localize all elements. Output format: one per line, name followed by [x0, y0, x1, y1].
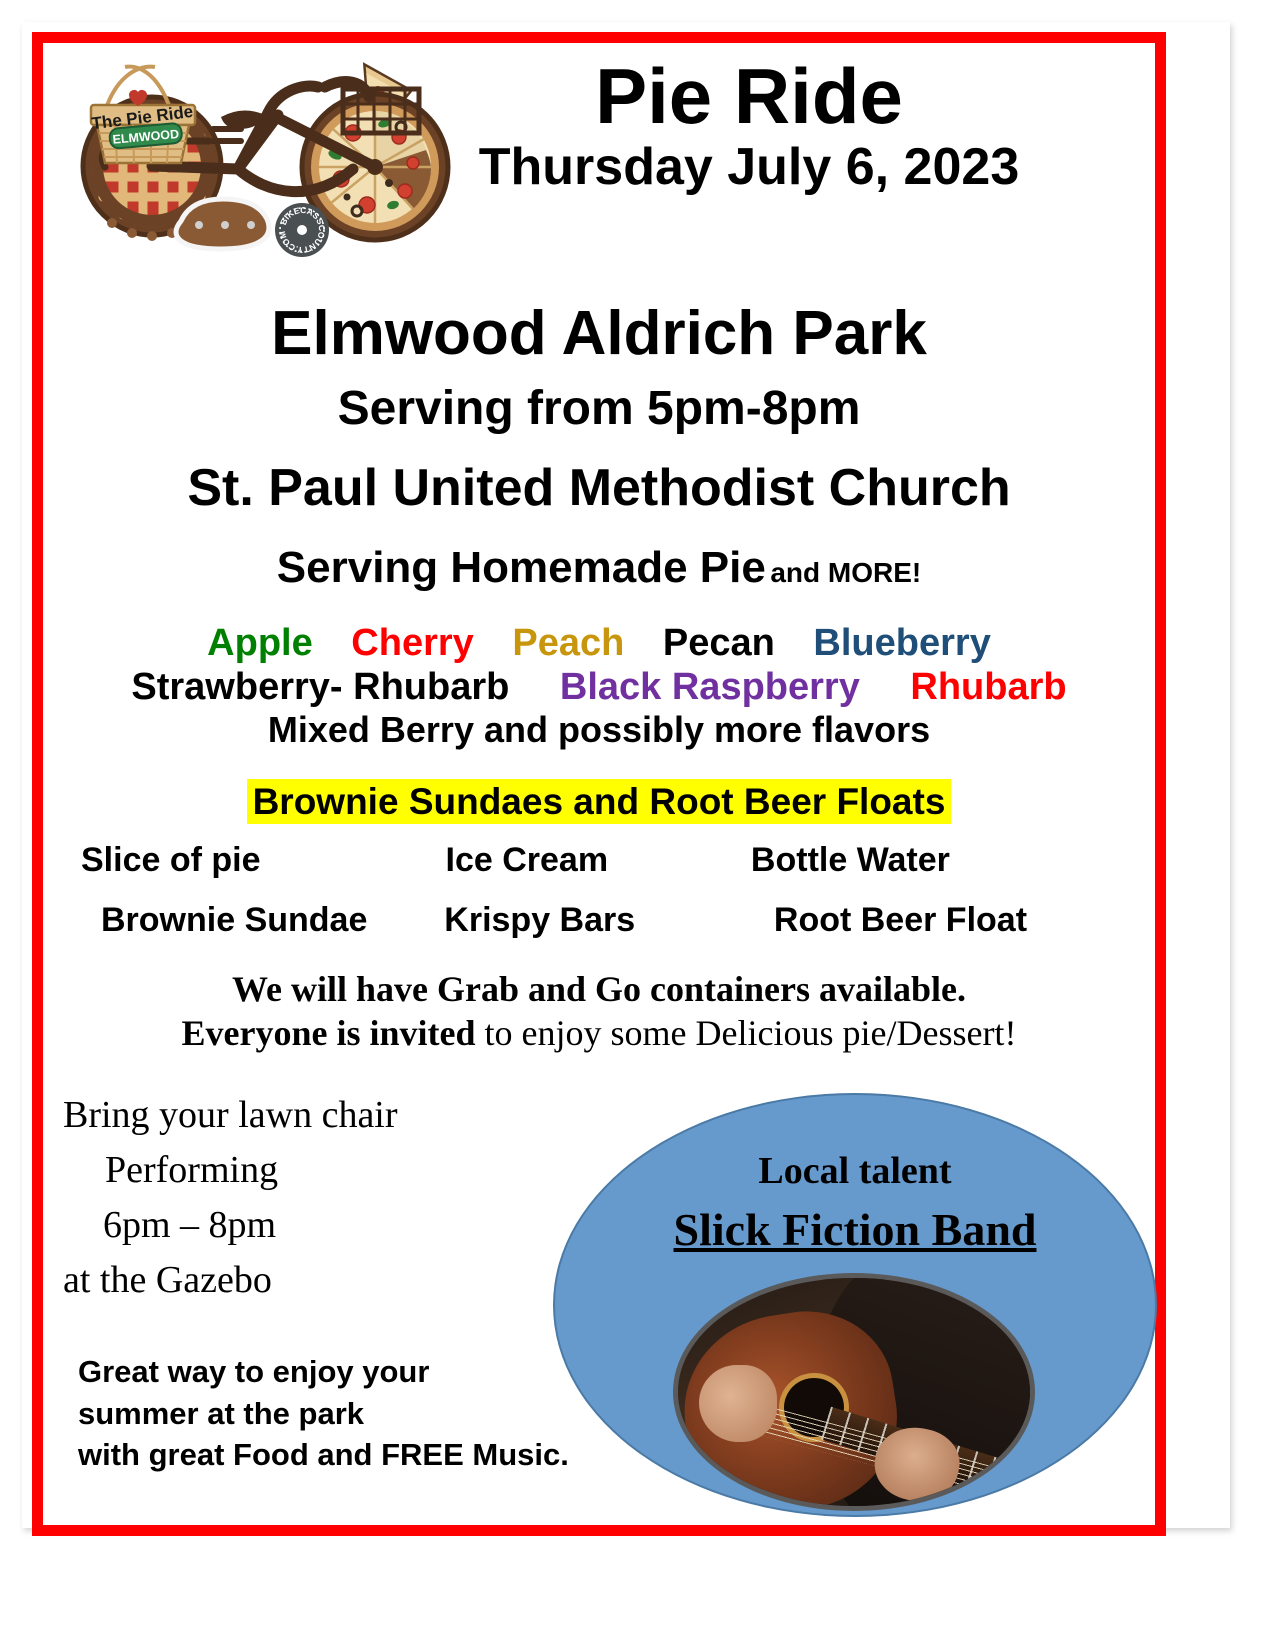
flyer-content: The Pie Ride ELMWOOD: [43, 43, 1155, 1525]
menu-item: Slice of pie: [53, 843, 446, 877]
invitation-note: Everyone is invited to enjoy some Delici…: [43, 1012, 1155, 1056]
guitarist-photo: [673, 1273, 1035, 1511]
performance-time: 6pm – 8pm: [63, 1198, 583, 1253]
flavor-row-2: Strawberry- Rhubarb Black Raspberry Rhub…: [43, 665, 1155, 709]
invitation-rest: to enjoy some Delicious pie/Dessert!: [476, 1013, 1017, 1053]
flavor-row-1: Apple Cherry Peach Pecan Blueberry: [43, 621, 1155, 665]
performance-location: at the Gazebo: [63, 1253, 583, 1308]
menu-item: Brownie Sundae: [53, 903, 444, 937]
flavor-row-3: Mixed Berry and possibly more flavors: [43, 709, 1155, 751]
menu-item: Root Beer Float: [732, 903, 1145, 937]
menu-row: Brownie Sundae Krispy Bars Root Beer Flo…: [53, 903, 1145, 937]
flavor-item: Apple: [207, 621, 313, 665]
pie-flavors-list: Apple Cherry Peach Pecan Blueberry Straw…: [43, 621, 1155, 751]
flavor-item: Rhubarb: [910, 665, 1066, 709]
specials-text: Brownie Sundaes and Root Beer Floats: [247, 779, 952, 824]
menu-item: Krispy Bars: [444, 903, 732, 937]
local-talent-label: Local talent: [555, 1149, 1155, 1193]
grab-and-go-note: We will have Grab and Go containers avai…: [43, 968, 1155, 1012]
highlighted-specials-line: Brownie Sundaes and Root Beer Floats: [43, 781, 1155, 823]
strumming-hand: [699, 1365, 776, 1443]
event-venue: Elmwood Aldrich Park: [43, 298, 1155, 369]
band-callout-oval: Local talent Slick Fiction Band: [553, 1093, 1157, 1517]
homemade-pie-main: Serving Homemade Pie: [277, 543, 766, 592]
flavor-item: Strawberry- Rhubarb: [131, 665, 509, 709]
flavor-item: Cherry: [351, 621, 474, 665]
lawn-chair-line: Bring your lawn chair: [63, 1088, 583, 1143]
band-name: Slick Fiction Band: [555, 1203, 1155, 1256]
homemade-pie-line: Serving Homemade Pie and MORE!: [43, 543, 1155, 593]
flavor-item: Blueberry: [813, 621, 990, 665]
homemade-pie-suffix: and MORE!: [770, 557, 921, 588]
flavor-item: Peach: [512, 621, 624, 665]
event-date: Thursday July 6, 2023: [343, 135, 1155, 200]
menu-row: Slice of pie Ice Cream Bottle Water: [53, 843, 1145, 877]
menu-items-grid: Slice of pie Ice Cream Bottle Water Brow…: [53, 843, 1145, 937]
flavor-item: Mixed Berry and possibly more flavors: [268, 709, 930, 751]
performance-info-block: Bring your lawn chair Performing 6pm – 8…: [63, 1088, 583, 1308]
flavor-item: Pecan: [663, 621, 775, 665]
flyer-page: The Pie Ride ELMWOOD: [0, 0, 1275, 1650]
serving-time: Serving from 5pm-8pm: [43, 381, 1155, 436]
notes-block: We will have Grab and Go containers avai…: [43, 968, 1155, 1056]
invitation-bold: Everyone is invited: [182, 1013, 476, 1053]
host-organization: St. Paul United Methodist Church: [43, 458, 1155, 518]
performing-line: Performing: [63, 1143, 583, 1198]
flavor-item: Black Raspberry: [560, 665, 860, 709]
menu-item: Ice Cream: [446, 843, 751, 877]
headline-block: Pie Ride Thursday July 6, 2023: [343, 57, 1155, 200]
guitarist-photo-inner: [678, 1278, 1030, 1506]
menu-item: Bottle Water: [751, 843, 1145, 877]
page-title: Pie Ride: [343, 57, 1155, 135]
